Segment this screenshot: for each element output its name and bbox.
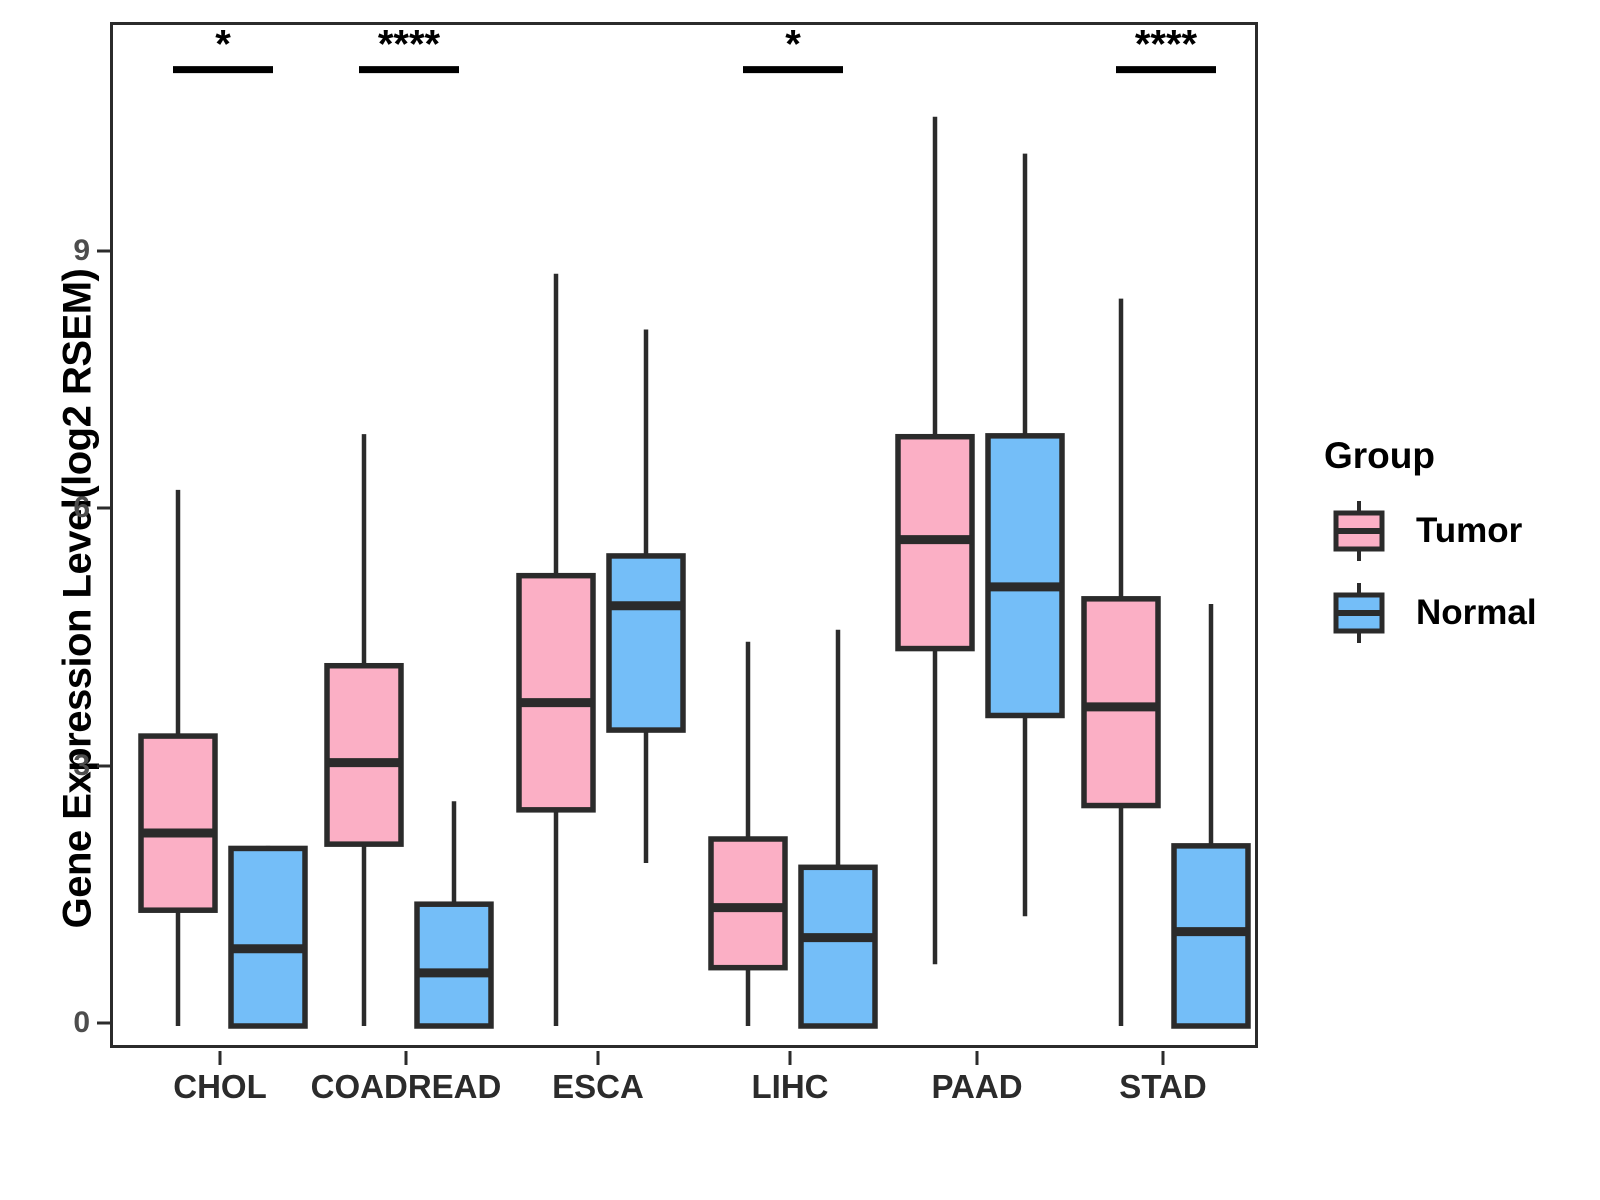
boxplot-coadread-tumor [326,434,402,1026]
box [417,904,491,1026]
chart-root: Gene Expression Level(log2 RSEM) 0369 **… [0,0,1600,1200]
x-tick-label-chol: CHOL [173,1068,267,1106]
boxplot-lihc-tumor [710,642,786,1026]
legend-label: Normal [1416,593,1537,633]
boxplot-lihc-normal [800,630,876,1026]
x-tick-mark [789,1051,792,1065]
boxplot-esca-normal [608,329,684,863]
significance-bracket-coadread: **** [359,25,459,70]
x-tick-mark [405,1051,408,1065]
significance-bracket-chol: * [173,25,273,70]
box [231,848,305,1026]
legend-item-normal[interactable]: Normal [1320,581,1590,645]
x-tick-label-stad: STAD [1119,1068,1206,1106]
boxplot-esca-tumor [518,274,594,1026]
significance-label: **** [378,25,441,67]
x-tick-mark [1162,1051,1165,1065]
plot-panel: ********** [110,22,1258,1048]
y-tick-label: 6 [30,491,90,525]
y-tick-label: 0 [30,1006,90,1040]
boxplot-coadread-normal [416,801,492,1026]
boxplot-stad-normal [1173,604,1249,1026]
y-tick-mark [97,507,110,510]
boxplot-chol-tumor [140,490,216,1026]
significance-bracket-lihc: * [743,25,843,70]
box [519,576,593,810]
box [988,436,1062,716]
legend-title: Group [1324,435,1590,477]
x-tick-label-paad: PAAD [931,1068,1022,1106]
x-tick-label-lihc: LIHC [752,1068,829,1106]
significance-label: * [215,25,231,67]
x-tick-label-coadread: COADREAD [311,1068,502,1106]
y-tick-mark [97,1022,110,1025]
legend-key-tumor-icon [1320,499,1398,563]
y-axis-title: Gene Expression Level(log2 RSEM) [56,149,101,1049]
boxplot-canvas: ********** [113,25,1261,1051]
significance-label: * [785,25,801,67]
legend-entries: TumorNormal [1320,499,1590,645]
y-tick-label: 3 [30,749,90,783]
legend-label: Tumor [1416,511,1522,551]
box [801,867,875,1026]
boxplot-paad-normal [987,154,1063,917]
x-tick-mark [976,1051,979,1065]
boxplot-chol-normal [230,846,306,1026]
x-tick-mark [219,1051,222,1065]
boxplot-paad-tumor [897,117,973,964]
y-tick-mark [97,764,110,767]
legend-item-tumor[interactable]: Tumor [1320,499,1590,563]
significance-bracket-stad: **** [1116,25,1216,70]
y-tick-mark [97,250,110,253]
legend-key-normal-icon [1320,581,1398,645]
y-tick-label: 9 [30,234,90,268]
significance-label: **** [1135,25,1198,67]
boxplot-stad-tumor [1083,299,1159,1026]
x-tick-mark [597,1051,600,1065]
box [1084,599,1158,806]
box [141,736,215,910]
box [327,666,401,844]
legend: Group TumorNormal [1320,435,1590,663]
x-tick-label-esca: ESCA [552,1068,644,1106]
box [609,556,683,730]
